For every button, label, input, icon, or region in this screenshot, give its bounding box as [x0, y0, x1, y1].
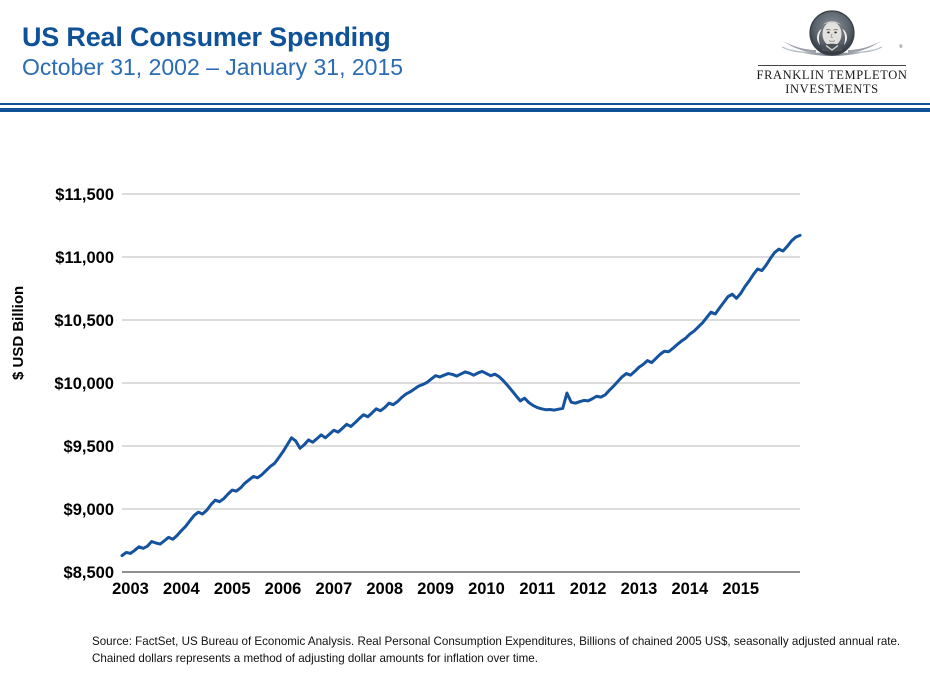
y-axis-tick-label: $9,500 [64, 438, 114, 456]
x-axis-tick-label: 2003 [112, 580, 149, 598]
x-axis-tick-label: 2005 [214, 580, 251, 598]
gridlines [122, 194, 800, 572]
line-chart: $8,500$9,000$9,500$10,000$10,500$11,000$… [0, 140, 930, 610]
x-axis-tick-label: 2006 [265, 580, 302, 598]
x-axis-tick-label: 2012 [570, 580, 607, 598]
x-axis-tick-label: 2013 [621, 580, 658, 598]
x-axis-tick-label: 2007 [316, 580, 353, 598]
svg-text:®: ® [899, 44, 903, 50]
y-axis-tick-label: $10,000 [54, 375, 114, 393]
y-axis-tick-label: $10,500 [54, 312, 114, 330]
x-axis-tick-label: 2008 [366, 580, 403, 598]
y-axis-tick-label: $11,000 [55, 249, 114, 267]
slide: US Real Consumer Spending October 31, 20… [0, 0, 930, 688]
slide-header: US Real Consumer Spending October 31, 20… [0, 0, 930, 112]
x-axis-tick-label: 2011 [519, 580, 555, 598]
header-rule-thick [0, 108, 930, 112]
franklin-templeton-logo: ® FRANKLIN TEMPLETON INVESTMENTS [752, 8, 912, 96]
y-axis-tick-labels: $8,500$9,000$9,500$10,000$10,500$11,000$… [54, 186, 114, 582]
y-axis-tick-label: $9,000 [64, 501, 114, 519]
y-axis-tick-label: $11,500 [55, 186, 114, 204]
source-footnote: Source: FactSet, US Bureau of Economic A… [92, 634, 902, 668]
header-rule-thin [0, 103, 930, 105]
logo-line-2: INVESTMENTS [752, 82, 912, 96]
x-axis-tick-label: 2004 [163, 580, 201, 598]
x-axis-tick-label: 2009 [417, 580, 454, 598]
x-axis-tick-label: 2015 [722, 580, 759, 598]
x-axis-tick-label: 2010 [468, 580, 505, 598]
benjamin-franklin-portrait-icon: ® [752, 8, 912, 64]
title-block: US Real Consumer Spending October 31, 20… [22, 22, 403, 82]
x-axis-tick-labels: 2003200420052006200720082009201020112012… [112, 580, 759, 598]
chart-container: $ USD Billion $8,500$9,000$9,500$10,000$… [0, 140, 930, 610]
page-title: US Real Consumer Spending [22, 22, 403, 53]
page-subtitle: October 31, 2002 – January 31, 2015 [22, 54, 403, 82]
logo-line-1: FRANKLIN TEMPLETON [752, 68, 912, 82]
y-axis-tick-label: $8,500 [64, 564, 114, 582]
data-series-line [122, 235, 800, 555]
logo-divider [758, 65, 906, 66]
x-axis-tick-label: 2014 [671, 580, 709, 598]
